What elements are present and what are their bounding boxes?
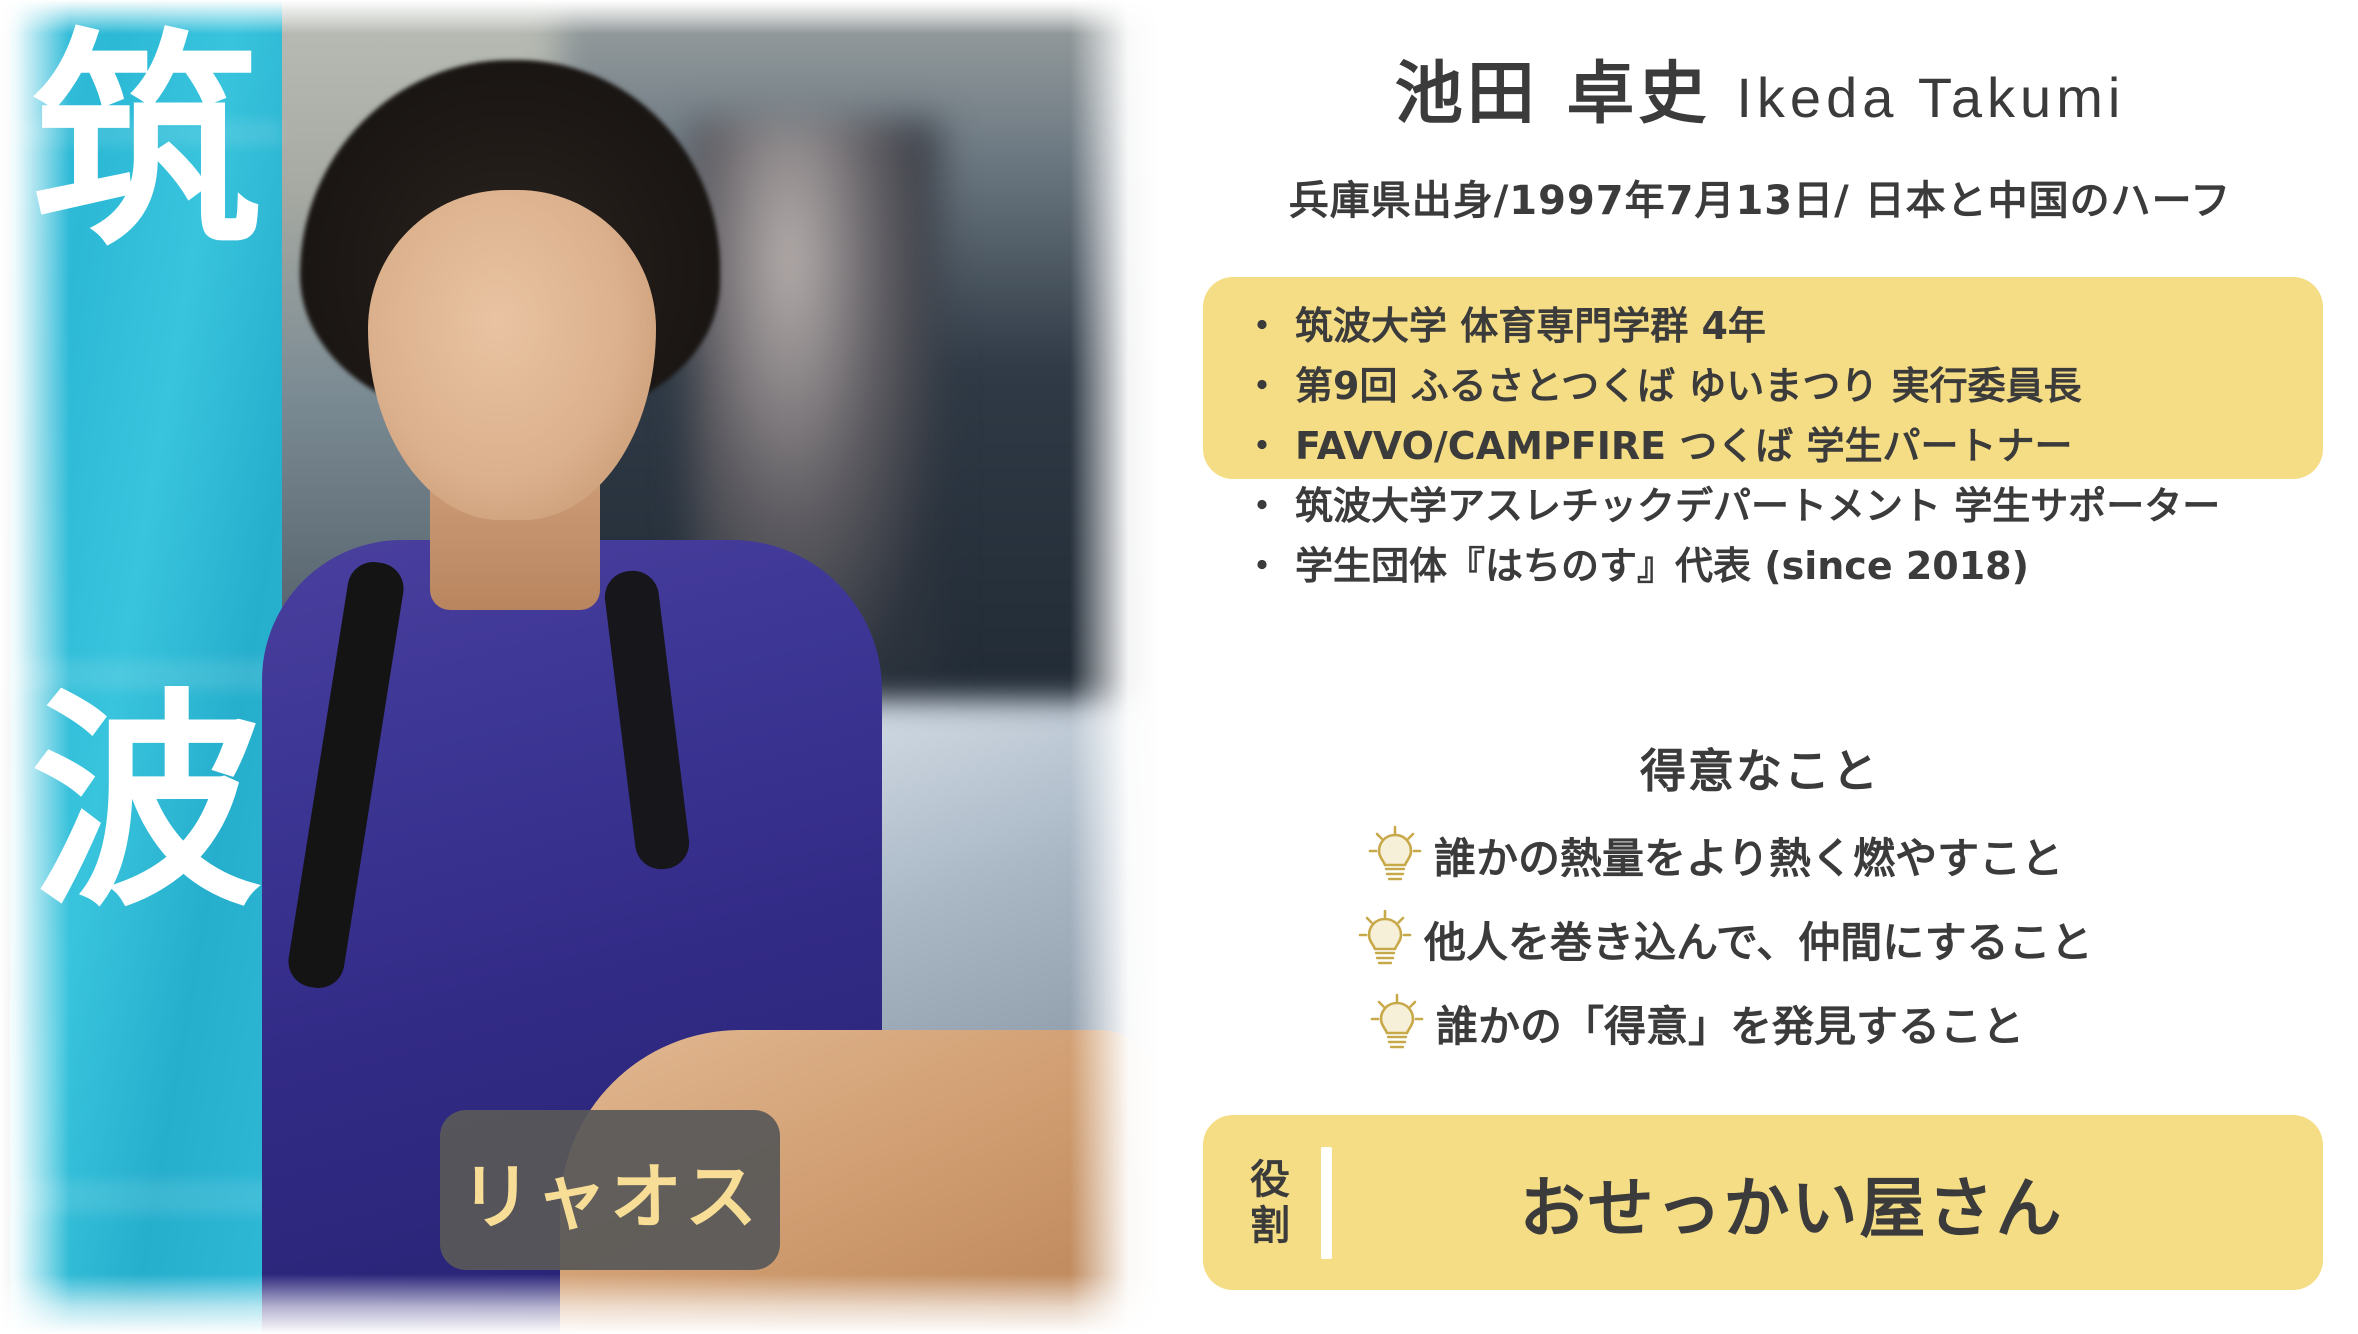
portrait-photo: 筑 波 リャオス (0, 0, 1160, 1334)
list-item: 他人を巻き込んで、仲間にすること (1180, 904, 2340, 974)
role-divider (1321, 1147, 1332, 1259)
bullet-glyph: ・ (1243, 307, 1281, 345)
list-item: ・ 学生団体『はちのす』代表 (since 2018) (1243, 547, 2323, 585)
lightbulb-icon (1370, 993, 1424, 1053)
role-label: 役 割 (1227, 1157, 1313, 1249)
fact-text: 第9回 ふるさとつくば ゆいまつり 実行委員長 (1295, 367, 2082, 405)
photo-fade-left (0, 0, 70, 1334)
skills-heading: 得意なこと (1180, 735, 2340, 801)
nickname-badge: リャオス (440, 1110, 780, 1270)
role-value: おせっかい屋さん (1338, 1155, 2323, 1251)
role-card: 役 割 おせっかい屋さん (1203, 1115, 2323, 1290)
name-japanese: 池田 卓史 (1395, 55, 1711, 134)
fact-text: 筑波大学 体育専門学群 4年 (1295, 307, 1766, 345)
lightbulb-icon (1358, 909, 1412, 969)
skills-list: 誰かの熱量をより熱く燃やすこと (1180, 820, 2340, 1072)
bullet-glyph: ・ (1243, 367, 1281, 405)
lightbulb-icon (1368, 825, 1422, 885)
bullet-glyph: ・ (1243, 427, 1281, 465)
photo-fade-top (0, 0, 1160, 34)
nickname-label: リャオス (460, 1138, 760, 1243)
fact-text: 筑波大学アスレチックデパートメント 学生サポーター (1295, 487, 2220, 525)
fact-text: FAVVO/CAMPFIRE つくば 学生パートナー (1295, 427, 2073, 465)
photo-fade-right (1070, 0, 1160, 1334)
skill-text: 他人を巻き込んで、仲間にすること (1424, 909, 2093, 970)
list-item: 誰かの熱量をより熱く燃やすこと (1180, 820, 2340, 890)
list-item: ・ 筑波大学 体育専門学群 4年 (1243, 307, 2323, 345)
bullet-glyph: ・ (1243, 487, 1281, 525)
list-item: ・ FAVVO/CAMPFIRE つくば 学生パートナー (1243, 427, 2323, 465)
role-label-char-2: 割 (1227, 1203, 1313, 1249)
bullet-glyph: ・ (1243, 547, 1281, 585)
skill-text: 誰かの「得意」を発見すること (1436, 993, 2024, 1054)
list-item: ・ 第9回 ふるさとつくば ゆいまつり 実行委員長 (1243, 367, 2323, 405)
profile-subtitle: 兵庫県出身/1997年7月13日/ 日本と中国のハーフ (1180, 168, 2340, 226)
fact-text: 学生団体『はちのす』代表 (since 2018) (1295, 547, 2029, 585)
list-item: ・ 筑波大学アスレチックデパートメント 学生サポーター (1243, 487, 2323, 525)
profile-card-page: 筑 波 リャオス 池田 卓史Ikeda Takumi 兵庫県出身/1997年7月… (0, 0, 2358, 1334)
photo-fade-bottom (0, 1274, 1160, 1334)
role-label-char-1: 役 (1227, 1157, 1313, 1203)
name-romaji: Ikeda Takumi (1736, 66, 2125, 129)
page-title: 池田 卓史Ikeda Takumi (1180, 38, 2340, 137)
skill-text: 誰かの熱量をより熱く燃やすこと (1434, 825, 2063, 886)
list-item: 誰かの「得意」を発見すること (1180, 988, 2340, 1058)
facts-card: ・ 筑波大学 体育専門学群 4年 ・ 第9回 ふるさとつくば ゆいまつり 実行委… (1203, 277, 2323, 479)
info-panel: 池田 卓史Ikeda Takumi 兵庫県出身/1997年7月13日/ 日本と中… (1180, 0, 2358, 1334)
